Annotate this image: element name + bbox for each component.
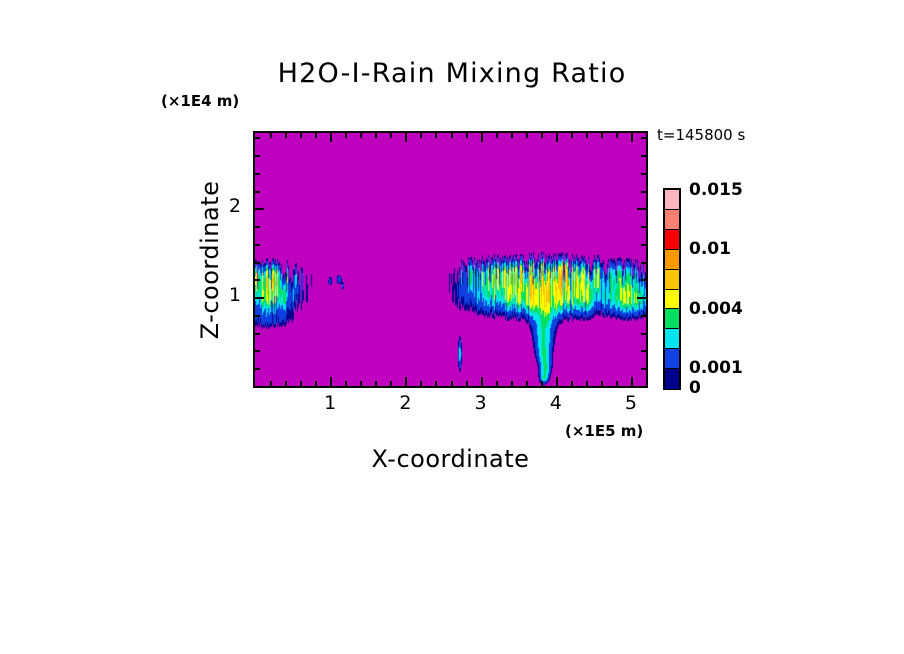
x-minor-tick-top [601,133,603,138]
y-axis-title: Z-coordinate [196,180,224,339]
colorbar-band [665,249,679,269]
time-annotation: t=145800 s [657,126,745,144]
colorbar-band [665,348,679,368]
x-minor-tick-top [435,133,437,138]
x-minor-tick [616,381,618,386]
x-minor-tick-top [420,133,422,138]
x-ticklabel: 5 [611,392,651,414]
x-minor-tick [511,381,513,386]
colorbar-label: 0.001 [689,358,743,378]
x-minor-tick-top [616,133,618,138]
x-major-tick-top [481,133,483,142]
colorbar-label: 0.01 [689,239,731,259]
y-minor-tick [255,350,260,352]
x-major-tick-top [631,133,633,142]
x-major-tick [631,377,633,386]
x-ticklabel: 4 [536,392,576,414]
y-minor-tick [255,137,260,139]
x-minor-tick [300,381,302,386]
x-minor-tick [526,381,528,386]
colorbar-band [665,368,679,388]
x-minor-tick-top [300,133,302,138]
y-minor-tick-right [641,333,646,335]
y-axis-unit-label: (×1E4 m) [161,92,239,110]
x-minor-tick [315,381,317,386]
x-minor-tick [285,381,287,386]
x-ticklabel: 2 [385,392,425,414]
y-minor-tick-right [641,173,646,175]
x-major-tick [330,377,332,386]
x-ticklabel: 1 [310,392,350,414]
colorbar-band [665,309,679,329]
y-major-tick-right [637,297,646,299]
y-minor-tick [255,279,260,281]
x-minor-tick [360,381,362,386]
y-minor-tick [255,262,260,264]
x-major-tick-top [556,133,558,142]
x-minor-tick-top [390,133,392,138]
x-axis-title: X-coordinate [253,445,648,473]
colorbar-band-separator [665,328,679,329]
colorbar-band-separator [665,269,679,270]
y-minor-tick [255,315,260,317]
y-minor-tick [255,191,260,193]
colorbar-label: 0.004 [689,299,743,319]
x-minor-tick [586,381,588,386]
x-minor-tick [451,381,453,386]
x-minor-tick-top [586,133,588,138]
x-minor-tick [541,381,543,386]
y-minor-tick-right [641,244,646,246]
y-axis-title-wrapper: Z-coordinate [196,131,224,388]
x-minor-tick [345,381,347,386]
x-axis-unit-label: (×1E5 m) [565,422,643,440]
x-minor-tick [601,381,603,386]
colorbar-band-separator [665,249,679,250]
y-minor-tick [255,173,260,175]
x-minor-tick-top [315,133,317,138]
x-minor-tick [435,381,437,386]
x-minor-tick [420,381,422,386]
colorbar-band-separator [665,368,679,369]
x-minor-tick-top [375,133,377,138]
x-minor-tick-top [270,133,272,138]
y-minor-tick-right [641,155,646,157]
x-minor-tick-top [466,133,468,138]
y-minor-tick [255,368,260,370]
colorbar-band [665,230,679,250]
x-minor-tick-top [541,133,543,138]
y-minor-tick-right [641,279,646,281]
x-minor-tick-top [285,133,287,138]
colorbar-band [665,190,679,210]
x-minor-tick-top [511,133,513,138]
x-minor-tick [496,381,498,386]
page-title: H2O-I-Rain Mixing Ratio [0,58,904,89]
x-major-tick [556,377,558,386]
y-major-tick [255,208,264,210]
x-minor-tick-top [360,133,362,138]
y-minor-tick [255,333,260,335]
x-major-tick [405,377,407,386]
colorbar-band [665,289,679,309]
x-minor-tick [390,381,392,386]
colorbar-band-separator [665,209,679,210]
colorbar-band-separator [665,289,679,290]
colorbar-band [665,210,679,230]
x-minor-tick [466,381,468,386]
x-major-tick [481,377,483,386]
y-minor-tick [255,244,260,246]
y-major-tick [255,297,264,299]
y-minor-tick-right [641,368,646,370]
x-minor-tick [571,381,573,386]
x-minor-tick-top [526,133,528,138]
colorbar [663,188,681,390]
colorbar-label: 0 [689,378,701,398]
colorbar-band-separator [665,348,679,349]
x-minor-tick-top [496,133,498,138]
plot-area [253,131,648,388]
y-minor-tick-right [641,315,646,317]
x-minor-tick [375,381,377,386]
y-major-tick-right [637,208,646,210]
y-minor-tick-right [641,262,646,264]
colorbar-band-separator [665,308,679,309]
heatmap-canvas [255,133,646,386]
y-minor-tick [255,155,260,157]
x-minor-tick-top [451,133,453,138]
y-minor-tick-right [641,226,646,228]
x-major-tick-top [405,133,407,142]
y-minor-tick [255,226,260,228]
colorbar-label: 0.015 [689,180,743,200]
x-minor-tick-top [571,133,573,138]
colorbar-band-separator [665,229,679,230]
colorbar-band [665,269,679,289]
x-minor-tick [270,381,272,386]
y-minor-tick-right [641,191,646,193]
y-minor-tick-right [641,137,646,139]
y-minor-tick-right [641,350,646,352]
colorbar-band [665,329,679,349]
x-major-tick-top [330,133,332,142]
x-minor-tick-top [345,133,347,138]
x-ticklabel: 3 [461,392,501,414]
